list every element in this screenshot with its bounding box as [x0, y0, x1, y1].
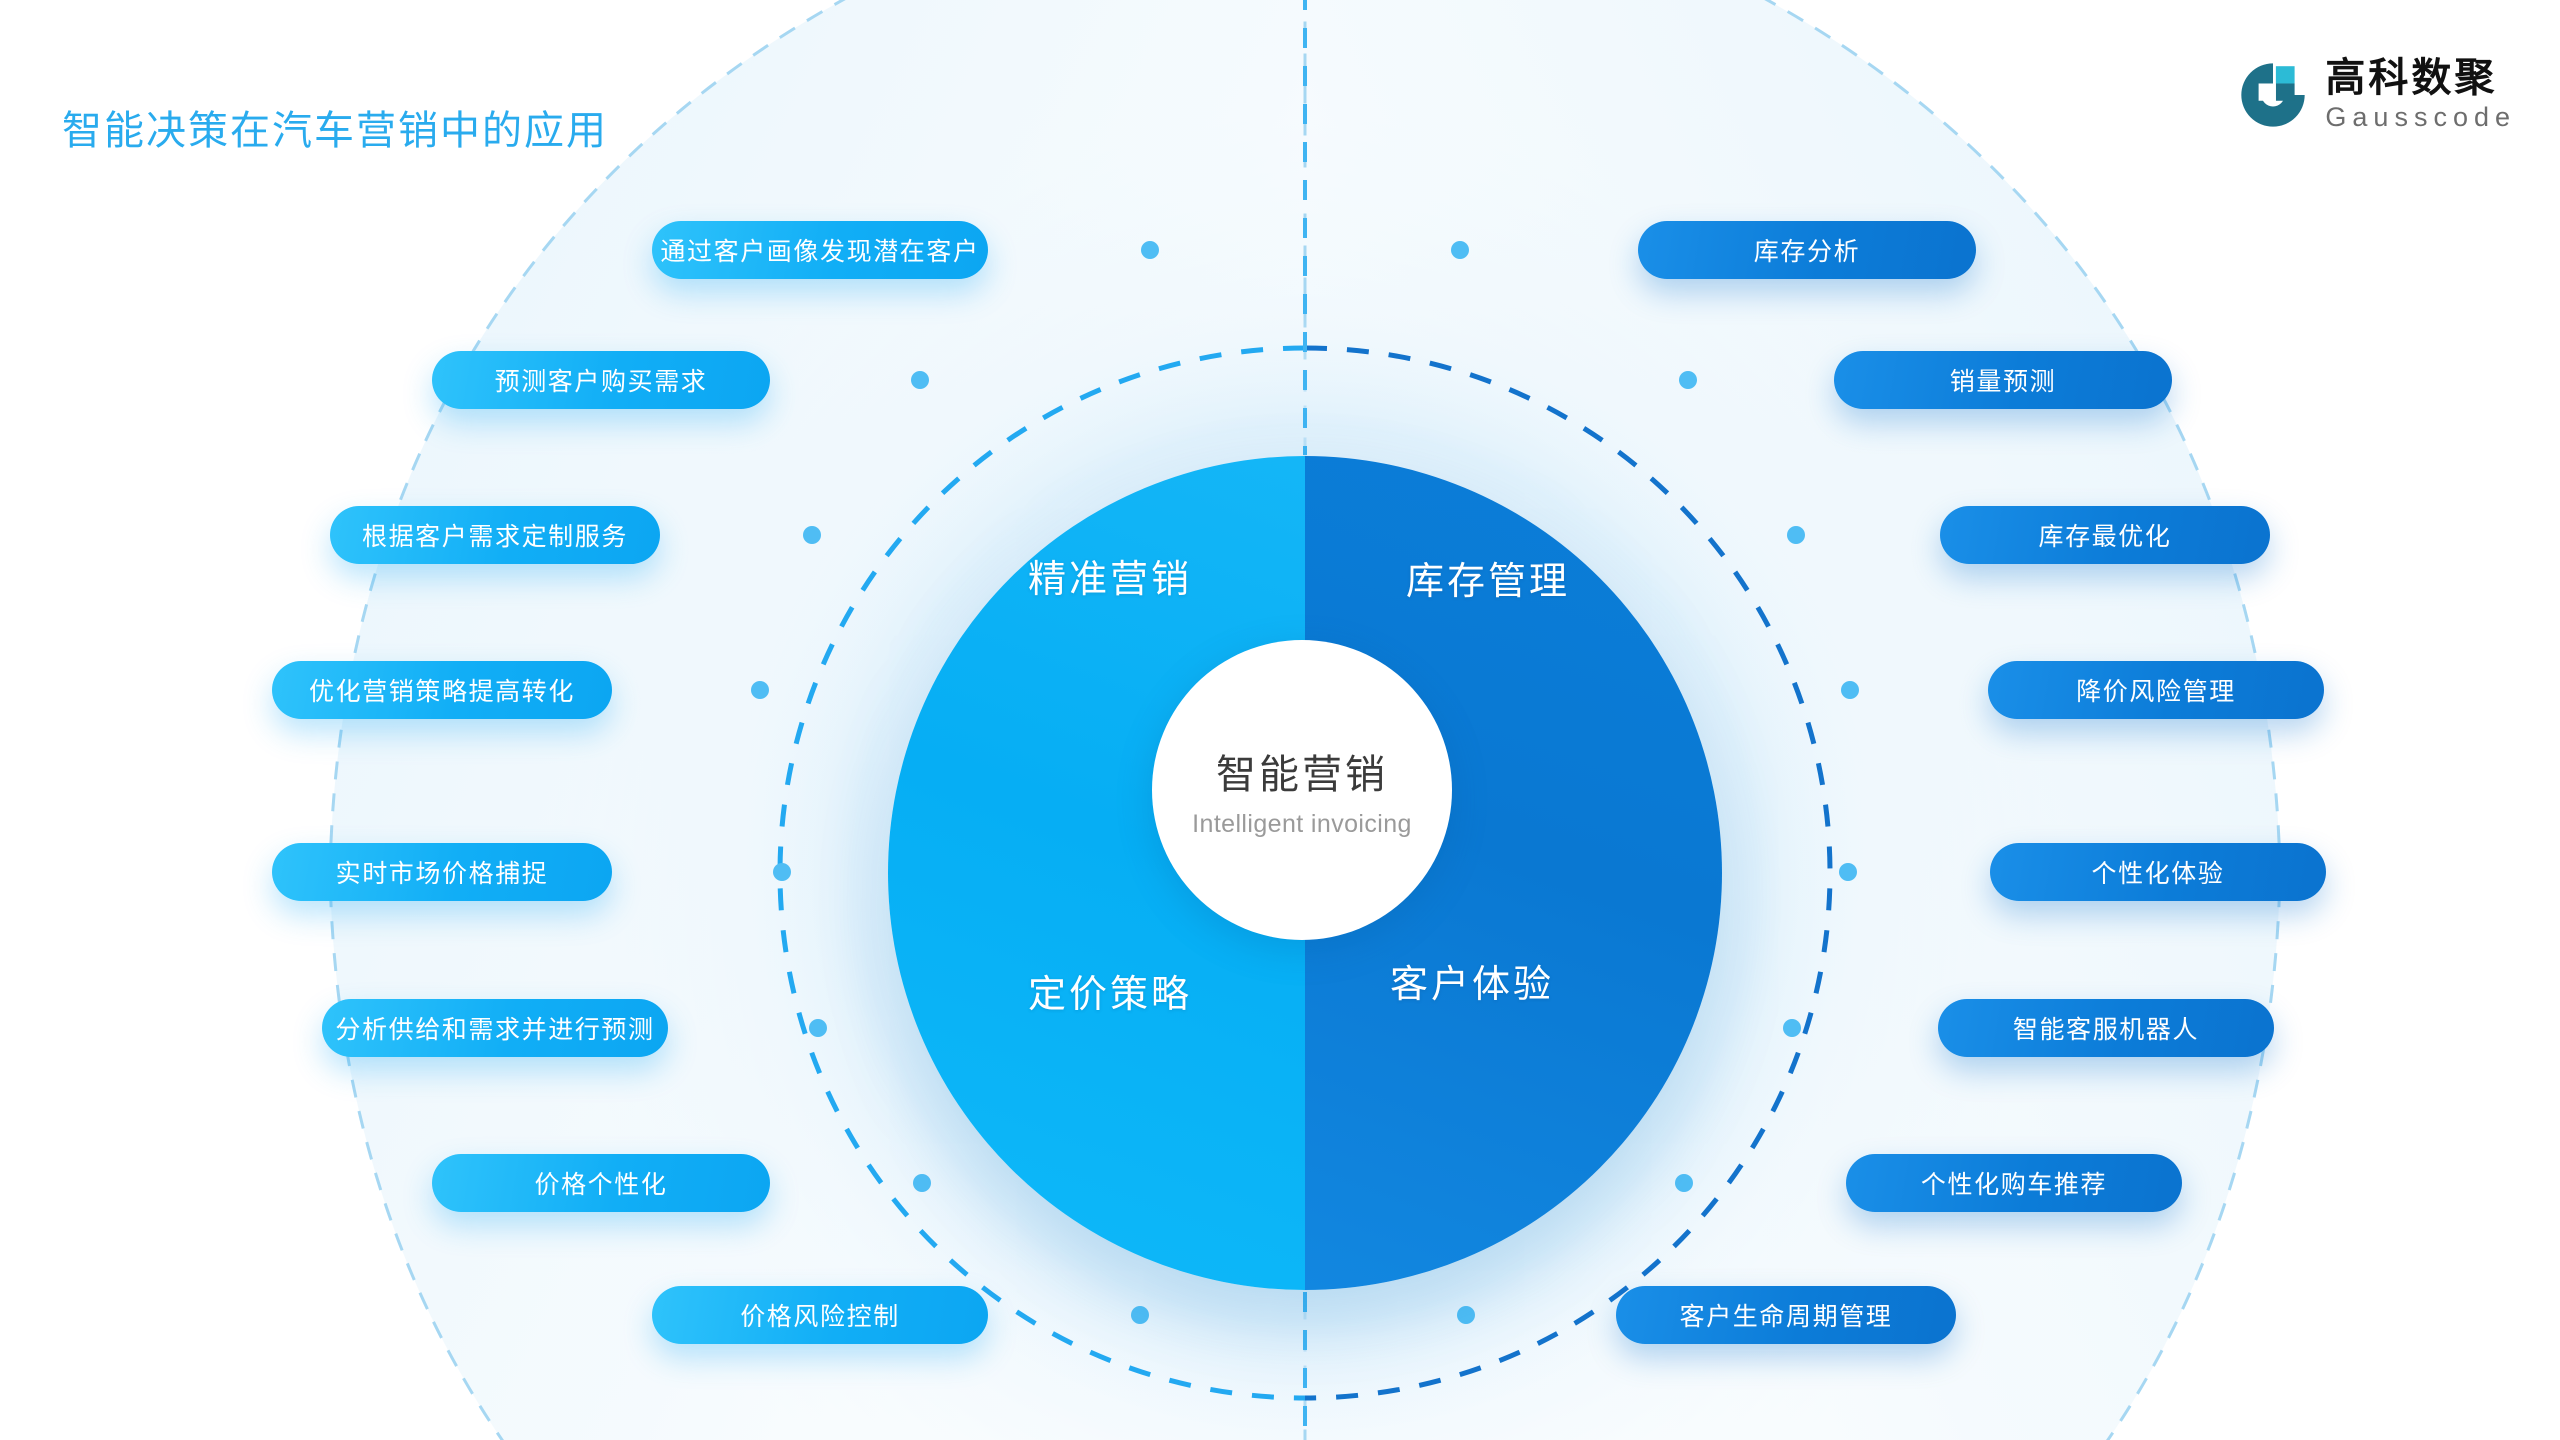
hub-title: 智能营销 [1216, 742, 1388, 800]
branch-pill-right-4[interactable]: 降价风险管理 [1988, 661, 2324, 719]
quadrant-label-precision-marketing: 精准营销 [1028, 548, 1192, 603]
branch-pill-left-6[interactable]: 分析供给和需求并进行预测 [322, 999, 668, 1057]
branch-pill-right-2[interactable]: 销量预测 [1834, 351, 2172, 409]
logo-name-cn: 高科数聚 [2325, 58, 2516, 98]
hub-subtitle: Intelligent invoicing [1192, 810, 1412, 839]
branch-pill-left-7[interactable]: 价格个性化 [432, 1154, 770, 1212]
branch-pill-right-7[interactable]: 个性化购车推荐 [1846, 1154, 2182, 1212]
logo-text-block: 高科数聚 Gausscode [2325, 58, 2516, 131]
branch-pill-left-3[interactable]: 根据客户需求定制服务 [330, 506, 660, 564]
logo-name-en: Gausscode [2325, 104, 2516, 131]
branch-pill-right-3[interactable]: 库存最优化 [1940, 506, 2270, 564]
branch-pill-left-8[interactable]: 价格风险控制 [652, 1286, 988, 1344]
branch-pill-left-1[interactable]: 通过客户画像发现潜在客户 [652, 221, 988, 279]
branch-pill-right-1[interactable]: 库存分析 [1638, 221, 1976, 279]
center-hub: 智能营销 Intelligent invoicing [1152, 640, 1452, 940]
quadrant-label-pricing-strategy: 定价策略 [1028, 963, 1192, 1018]
branch-pill-left-5[interactable]: 实时市场价格捕捉 [272, 843, 612, 901]
page-title: 智能决策在汽车营销中的应用 [62, 98, 608, 156]
branch-pill-right-8[interactable]: 客户生命周期管理 [1616, 1286, 1956, 1344]
gausscode-logo-icon [2237, 59, 2309, 131]
branch-pill-right-6[interactable]: 智能客服机器人 [1938, 999, 2274, 1057]
branch-pill-left-2[interactable]: 预测客户购买需求 [432, 351, 770, 409]
brand-logo: 高科数聚 Gausscode [2237, 58, 2516, 131]
infographic-canvas: 智能决策在汽车营销中的应用 高科数聚 Gausscode [0, 0, 2560, 1440]
quadrant-label-inventory-management: 库存管理 [1406, 550, 1570, 605]
quadrant-label-customer-experience: 客户体验 [1390, 953, 1554, 1008]
branch-pill-right-5[interactable]: 个性化体验 [1990, 843, 2326, 901]
branch-pill-left-4[interactable]: 优化营销策略提高转化 [272, 661, 612, 719]
